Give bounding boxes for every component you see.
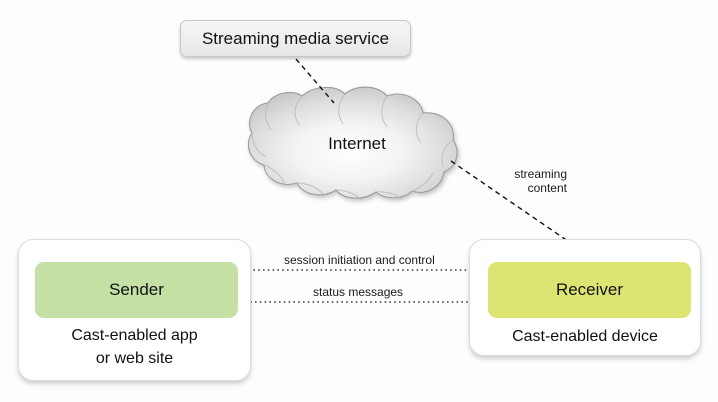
streaming-content-edge-label: streaming content [497,167,567,195]
sender-label: Sender [109,280,164,300]
receiver-inner-box[interactable]: Receiver [488,262,691,318]
streaming-media-service-node[interactable]: Streaming media service [180,20,411,57]
diagram-canvas: Streaming media service Internet Sender … [0,0,718,402]
streaming-content-line2: content [497,181,567,195]
status-messages-edge-label: status messages [313,285,403,299]
sender-caption: Cast-enabled app or web site [18,324,251,370]
receiver-label: Receiver [556,280,623,300]
streaming-content-line1: streaming [497,167,567,181]
internet-node[interactable]: Internet [250,86,462,202]
streaming-media-service-label: Streaming media service [202,29,389,49]
sender-caption-line1: Cast-enabled app [18,324,251,347]
sender-inner-box[interactable]: Sender [35,262,238,318]
session-initiation-edge-label: session initiation and control [284,253,435,267]
receiver-caption-line1: Cast-enabled device [469,325,701,348]
internet-label: Internet [250,86,462,202]
receiver-caption: Cast-enabled device [469,325,701,348]
sender-caption-line2: or web site [18,347,251,370]
